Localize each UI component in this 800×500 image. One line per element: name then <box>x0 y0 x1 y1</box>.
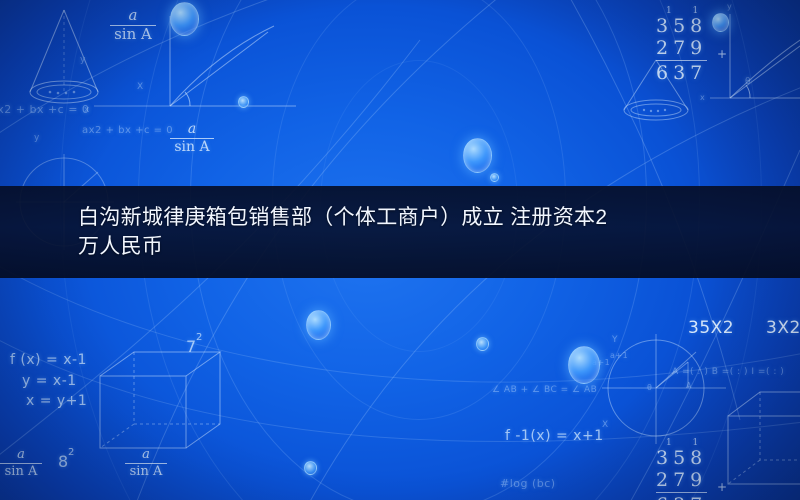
caption-band: 白沟新城律庚箱包销售部（个体工商户）成立 注册资本2 万人民币 <box>0 186 800 278</box>
caption-text-block: 白沟新城律庚箱包销售部（个体工商户）成立 注册资本2 万人民币 <box>78 204 718 261</box>
caption-line-2: 万人民币 <box>78 233 718 262</box>
caption-line-1: 白沟新城律庚箱包销售部（个体工商户）成立 注册资本2 <box>78 204 718 233</box>
banner-image: a sin A y x X ax2 + bx +c = 0 ax2 + bx +… <box>0 0 800 500</box>
